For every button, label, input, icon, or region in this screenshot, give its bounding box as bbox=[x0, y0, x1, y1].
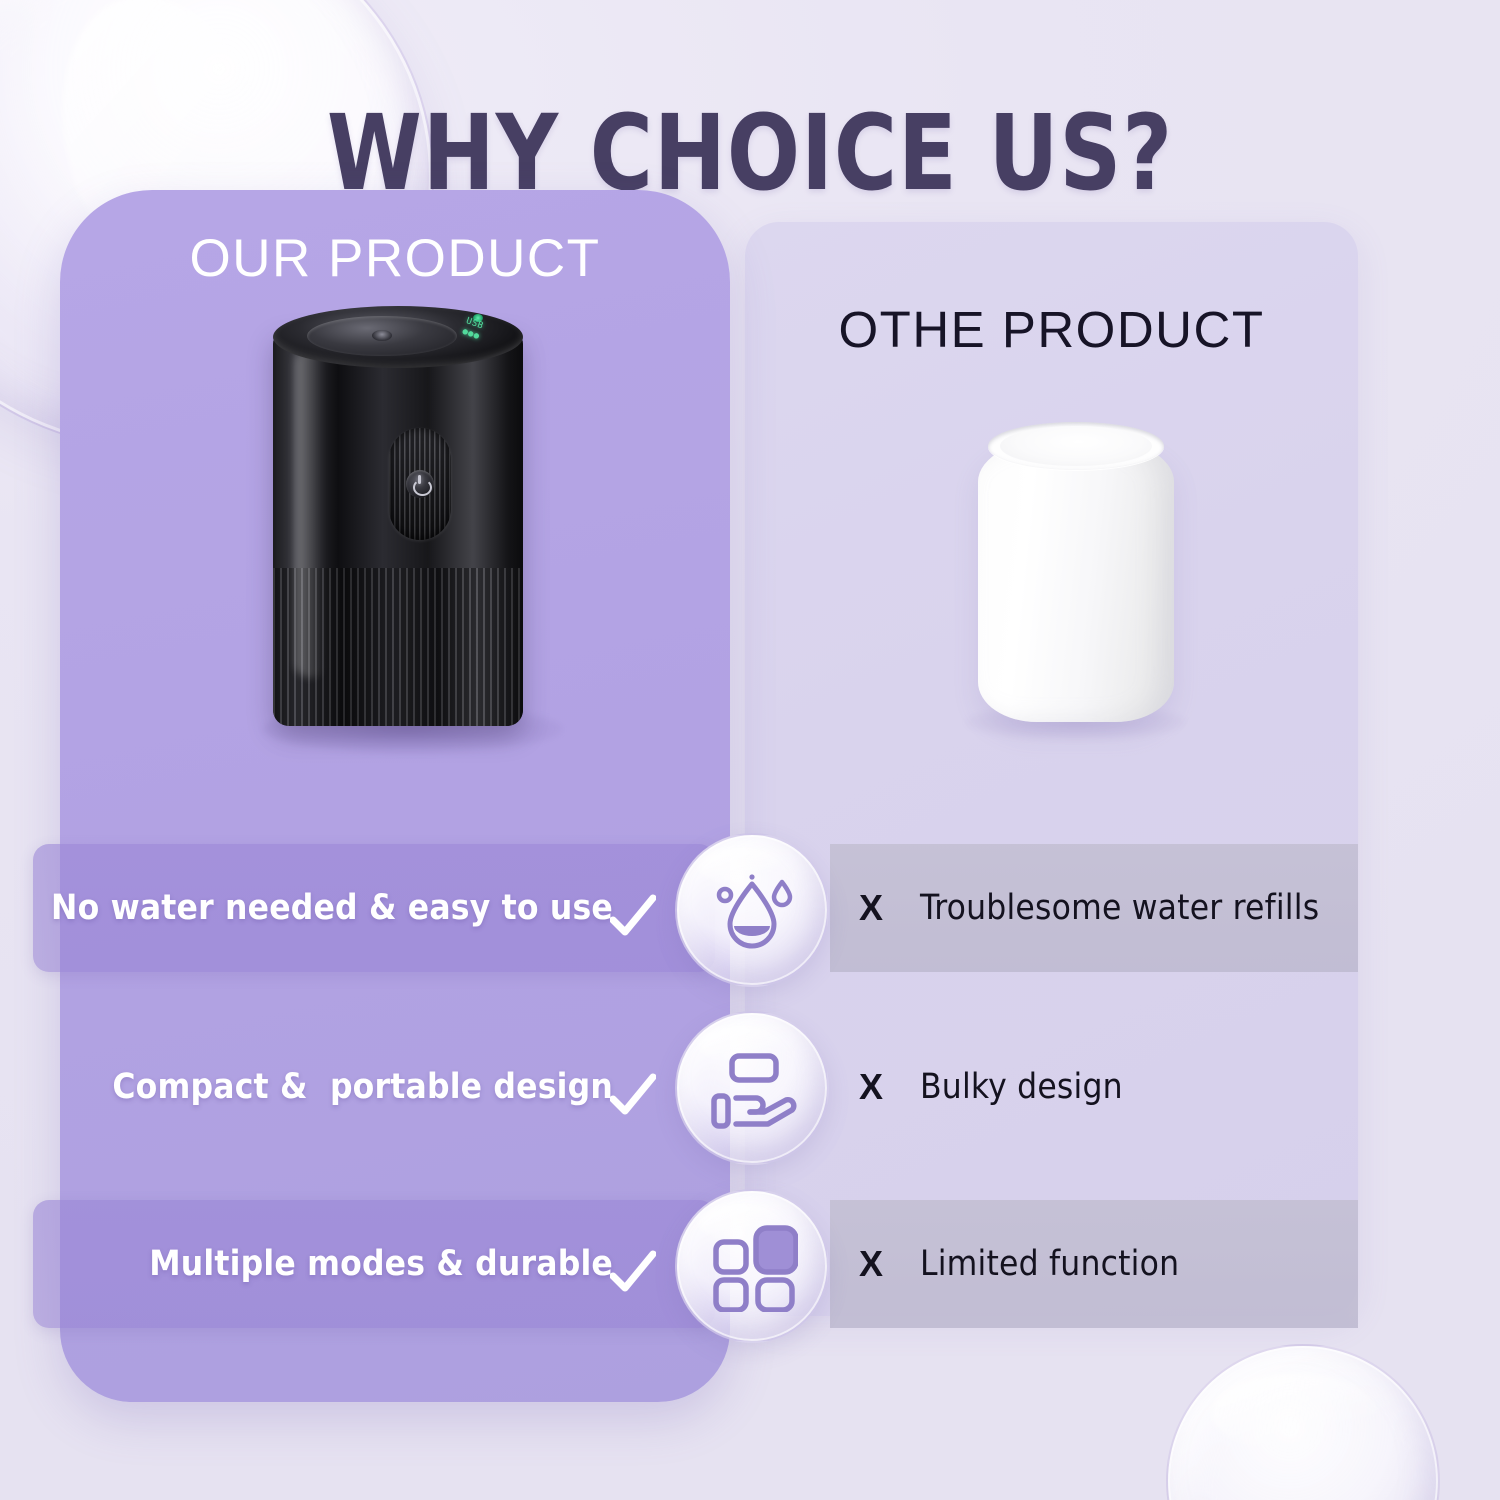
hand-holding-device-icon bbox=[675, 1011, 829, 1165]
grid-modes-icon bbox=[675, 1189, 829, 1343]
cross-icon: X bbox=[848, 887, 894, 929]
our-product-nozzle-icon bbox=[372, 330, 392, 341]
check-icon bbox=[610, 1073, 656, 1119]
our-feature-text: No water needed & easy to use bbox=[33, 844, 613, 972]
water-drop-icon bbox=[675, 833, 829, 987]
cross-icon: X bbox=[848, 1243, 894, 1285]
glass-bubble-bottom-right-icon bbox=[1166, 1344, 1440, 1500]
other-product-image bbox=[960, 408, 1190, 748]
cross-icon: X bbox=[848, 1066, 894, 1108]
infographic-canvas: WHY CHOICE US? OTHE PRODUCT OUR PRODUCT … bbox=[0, 0, 1500, 1500]
our-feature-text: Multiple modes & durable bbox=[33, 1200, 613, 1328]
check-icon bbox=[610, 1250, 656, 1296]
other-feature-text: Troublesome water refills bbox=[920, 888, 1319, 928]
other-feature-text: Limited function bbox=[920, 1244, 1179, 1284]
our-product-heading: OUR PRODUCT bbox=[60, 228, 730, 289]
our-feature-text: Compact & portable design bbox=[33, 1023, 613, 1151]
other-feature-text: Bulky design bbox=[920, 1067, 1123, 1107]
power-button-icon bbox=[406, 470, 434, 498]
check-icon bbox=[610, 894, 656, 940]
other-feature-row: X Bulky design bbox=[830, 1023, 1390, 1151]
other-product-body bbox=[978, 436, 1174, 722]
other-feature-row: X Troublesome water refills bbox=[830, 844, 1390, 972]
other-feature-row: X Limited function bbox=[830, 1200, 1390, 1328]
our-product-gloss bbox=[295, 348, 325, 678]
other-product-lid bbox=[1000, 426, 1152, 466]
other-product-heading: OTHE PRODUCT bbox=[745, 300, 1358, 359]
our-product-image: USB●●● bbox=[255, 300, 525, 780]
other-product-panel bbox=[745, 222, 1358, 1316]
